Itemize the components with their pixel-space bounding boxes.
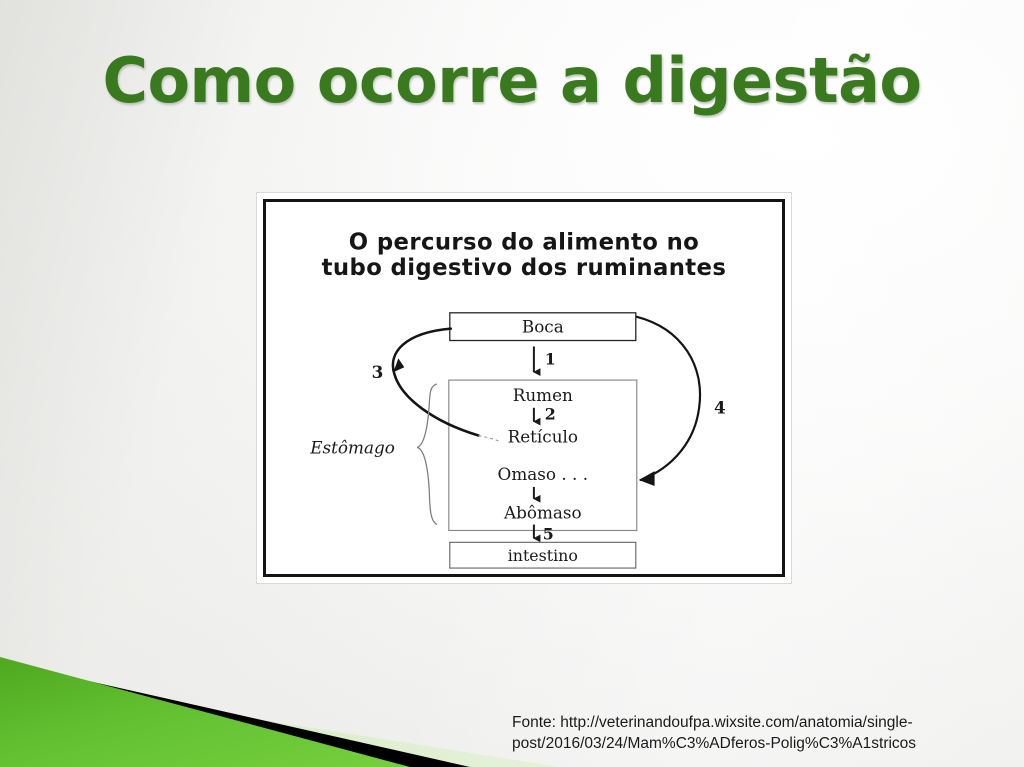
diagram-heading-line-2: tubo digestivo dos ruminantes <box>322 255 727 281</box>
slide-canvas: Como ocorre a digestão O percurso do ali… <box>0 0 1024 767</box>
step-label-1: 1 <box>545 349 556 368</box>
step-label-4: 4 <box>714 398 726 418</box>
source-line-2: post/2016/03/24/Mam%C3%ADferos-Polig%C3%… <box>512 735 916 752</box>
node-label-rumen: Rumen <box>513 385 573 405</box>
step-label-2: 2 <box>545 405 556 424</box>
step-label-5: 5 <box>543 524 554 543</box>
node-label-boca: Boca <box>522 317 564 337</box>
diagram-image[interactable]: O percurso do alimento no tubo digestivo… <box>256 192 792 584</box>
bracket-label-estomago: Estômago <box>309 437 395 457</box>
ruminant-digestion-diagram: O percurso do alimento no tubo digestivo… <box>266 202 782 574</box>
arrow-head-3 <box>393 358 404 372</box>
node-label-reticulo: Retículo <box>508 426 578 446</box>
page-title: Como ocorre a digestão <box>0 44 1024 117</box>
bracket-estomago <box>417 384 437 524</box>
band-bright-green <box>0 657 410 767</box>
diagram-frame: O percurso do alimento no tubo digestivo… <box>263 199 785 577</box>
arrow-path-3 <box>393 329 479 436</box>
source-note: Fonte: http://veterinandoufpa.wixsite.co… <box>512 713 1012 755</box>
arrow-path-3-dashed-tail <box>478 435 500 441</box>
diagram-heading-line-1: O percurso do alimento no <box>349 229 699 255</box>
node-label-omaso: Omaso . . . <box>498 464 588 484</box>
step-label-3: 3 <box>372 362 384 382</box>
arrow-path-4 <box>637 317 700 480</box>
band-pale-green <box>0 679 560 767</box>
node-label-intestino: intestino <box>508 546 578 565</box>
arrow-head-4 <box>639 471 655 486</box>
source-line-1: Fonte: http://veterinandoufpa.wixsite.co… <box>512 714 913 731</box>
node-label-abomaso: Abômaso <box>503 503 582 523</box>
band-black-stripe <box>0 661 470 767</box>
